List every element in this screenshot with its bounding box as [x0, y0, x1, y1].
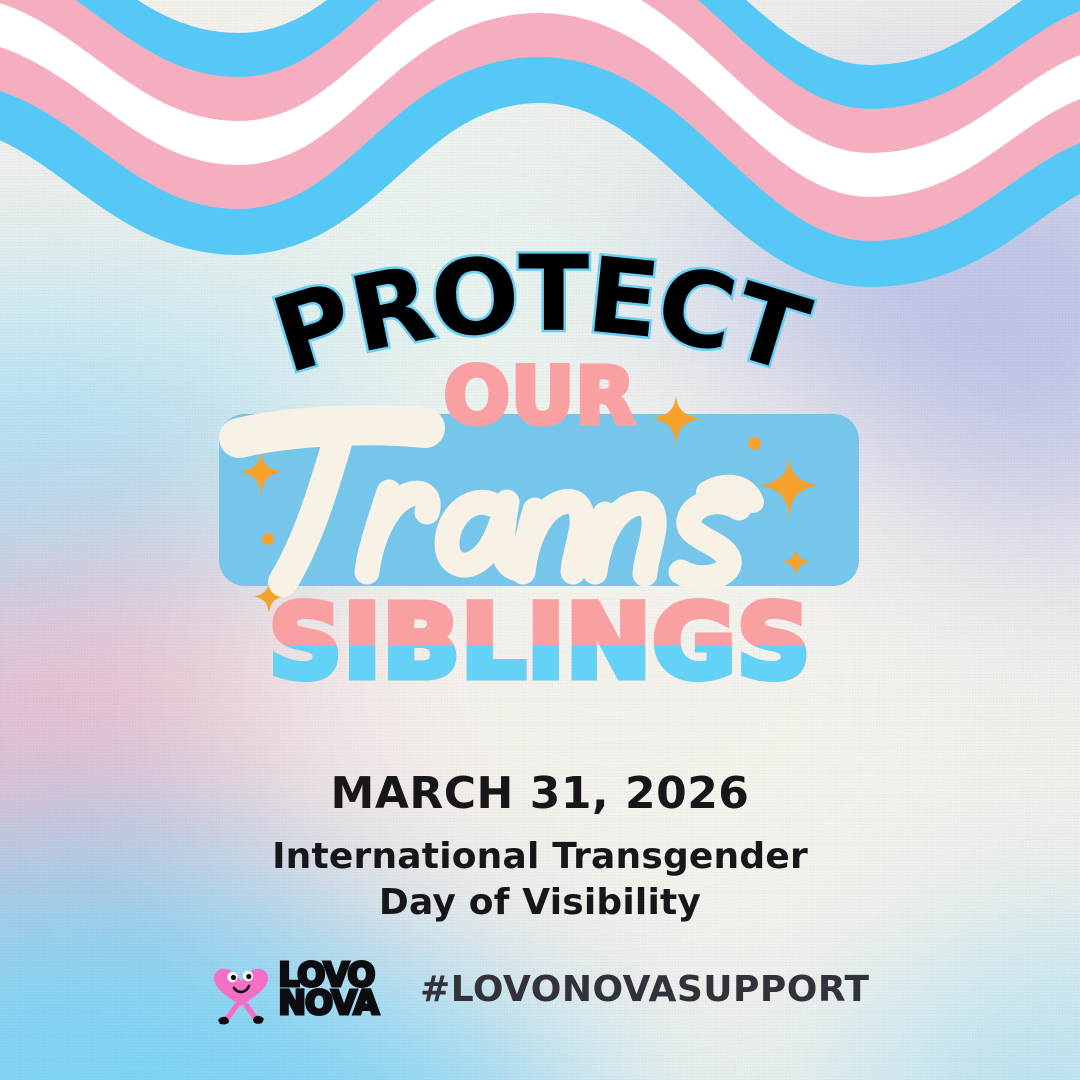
- headline-our: OUR: [0, 358, 1080, 436]
- headline-protect-letter: E: [584, 249, 663, 349]
- brand-logo[interactable]: LOVO NOVA: [210, 950, 378, 1028]
- heart-mascot-icon: [210, 950, 272, 1028]
- sparkle-icon: [779, 546, 813, 580]
- footer-lockup: LOVO NOVA #LOVONOVASUPPORT: [0, 950, 1080, 1028]
- sparkle-icon: [237, 450, 285, 498]
- event-date: MARCH 31, 2026: [0, 768, 1080, 819]
- sparkle-icon: [251, 580, 287, 616]
- campaign-hashtag: #LOVONOVASUPPORT: [420, 969, 870, 1010]
- poster-canvas: PROTECT OUR: [0, 0, 1080, 1080]
- sparkle-icon: [757, 456, 821, 520]
- sparkle-dot-icon: [261, 532, 275, 546]
- brand-wordmark: LOVO NOVA: [278, 961, 378, 1016]
- headline-protect-letter: O: [426, 248, 522, 350]
- sparkle-dot-icon: [747, 436, 762, 451]
- event-subtitle-line2: Day of Visibility: [0, 880, 1080, 926]
- headline-protect-text: PROTECT: [276, 248, 803, 342]
- event-subtitle-line1: International Transgender: [0, 834, 1080, 880]
- brand-wordmark-line2: NOVA: [278, 989, 378, 1017]
- headline-protect-letter: T: [518, 248, 588, 342]
- event-subtitle: International Transgender Day of Visibil…: [0, 834, 1080, 926]
- headline-siblings: SIBLINGS SIBLINGS: [0, 588, 1080, 718]
